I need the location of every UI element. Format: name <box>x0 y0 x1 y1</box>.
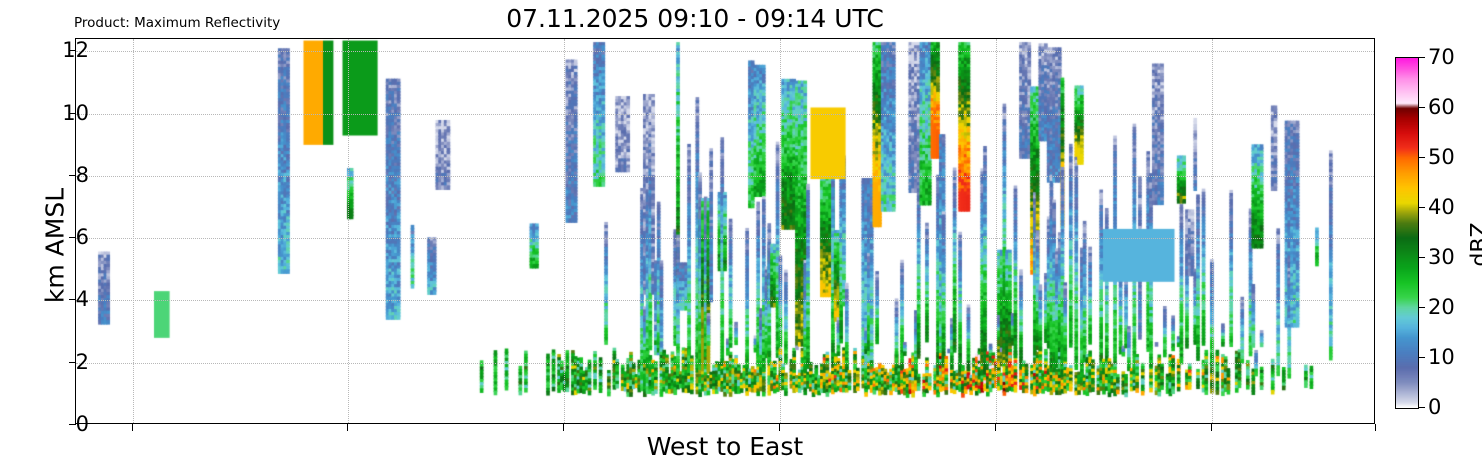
colorbar-tick-mark <box>1418 407 1425 408</box>
y-tick-label: 4 <box>76 287 89 311</box>
colorbar-tick-label: 40 <box>1428 195 1455 219</box>
y-tick-label: 8 <box>76 163 89 187</box>
colorbar-tick-mark <box>1418 257 1425 258</box>
y-tick-mark <box>69 299 76 300</box>
x-tick-mark <box>1375 424 1376 431</box>
colorbar-tick-label: 70 <box>1428 45 1455 69</box>
colorbar-tick-mark <box>1418 57 1425 58</box>
colorbar-gradient <box>1395 57 1419 409</box>
y-tick-mark <box>69 424 76 425</box>
y-tick-label: 6 <box>76 225 89 249</box>
x-axis-label: West to East <box>75 432 1375 461</box>
x-tick-mark <box>132 424 133 431</box>
y-tick-mark <box>69 175 76 176</box>
y-tick-mark <box>69 113 76 114</box>
page-title: 07.11.2025 09:10 - 09:14 UTC <box>0 4 1390 33</box>
colorbar-tick-label: 50 <box>1428 145 1455 169</box>
colorbar-tick-label: 60 <box>1428 95 1455 119</box>
colorbar-tick-mark <box>1418 157 1425 158</box>
y-axis-label: km AMSL <box>41 96 70 396</box>
colorbar-tick-mark <box>1418 107 1425 108</box>
x-tick-mark <box>1211 424 1212 431</box>
colorbar-tick-label: 30 <box>1428 245 1455 269</box>
x-tick-mark <box>779 424 780 431</box>
colorbar-tick-mark <box>1418 207 1425 208</box>
colorbar-tick-label: 0 <box>1428 395 1441 419</box>
plot-area <box>75 38 1375 424</box>
y-tick-mark <box>69 362 76 363</box>
x-tick-mark <box>563 424 564 431</box>
colorbar-tick-label: 10 <box>1428 345 1455 369</box>
y-tick-label: 0 <box>76 412 89 436</box>
colorbar-tick-mark <box>1418 307 1425 308</box>
y-tick-mark <box>69 237 76 238</box>
y-tick-label: 2 <box>76 350 89 374</box>
colorbar-label: dBZ <box>1468 165 1482 325</box>
colorbar <box>1395 57 1417 407</box>
y-tick-mark <box>69 50 76 51</box>
colorbar-tick-label: 20 <box>1428 295 1455 319</box>
reflectivity-heatmap <box>76 39 1375 424</box>
radar-cross-section-figure: Product: Maximum Reflectivity 07.11.2025… <box>0 0 1482 470</box>
x-tick-mark <box>347 424 348 431</box>
x-tick-mark <box>995 424 996 431</box>
colorbar-tick-mark <box>1418 357 1425 358</box>
